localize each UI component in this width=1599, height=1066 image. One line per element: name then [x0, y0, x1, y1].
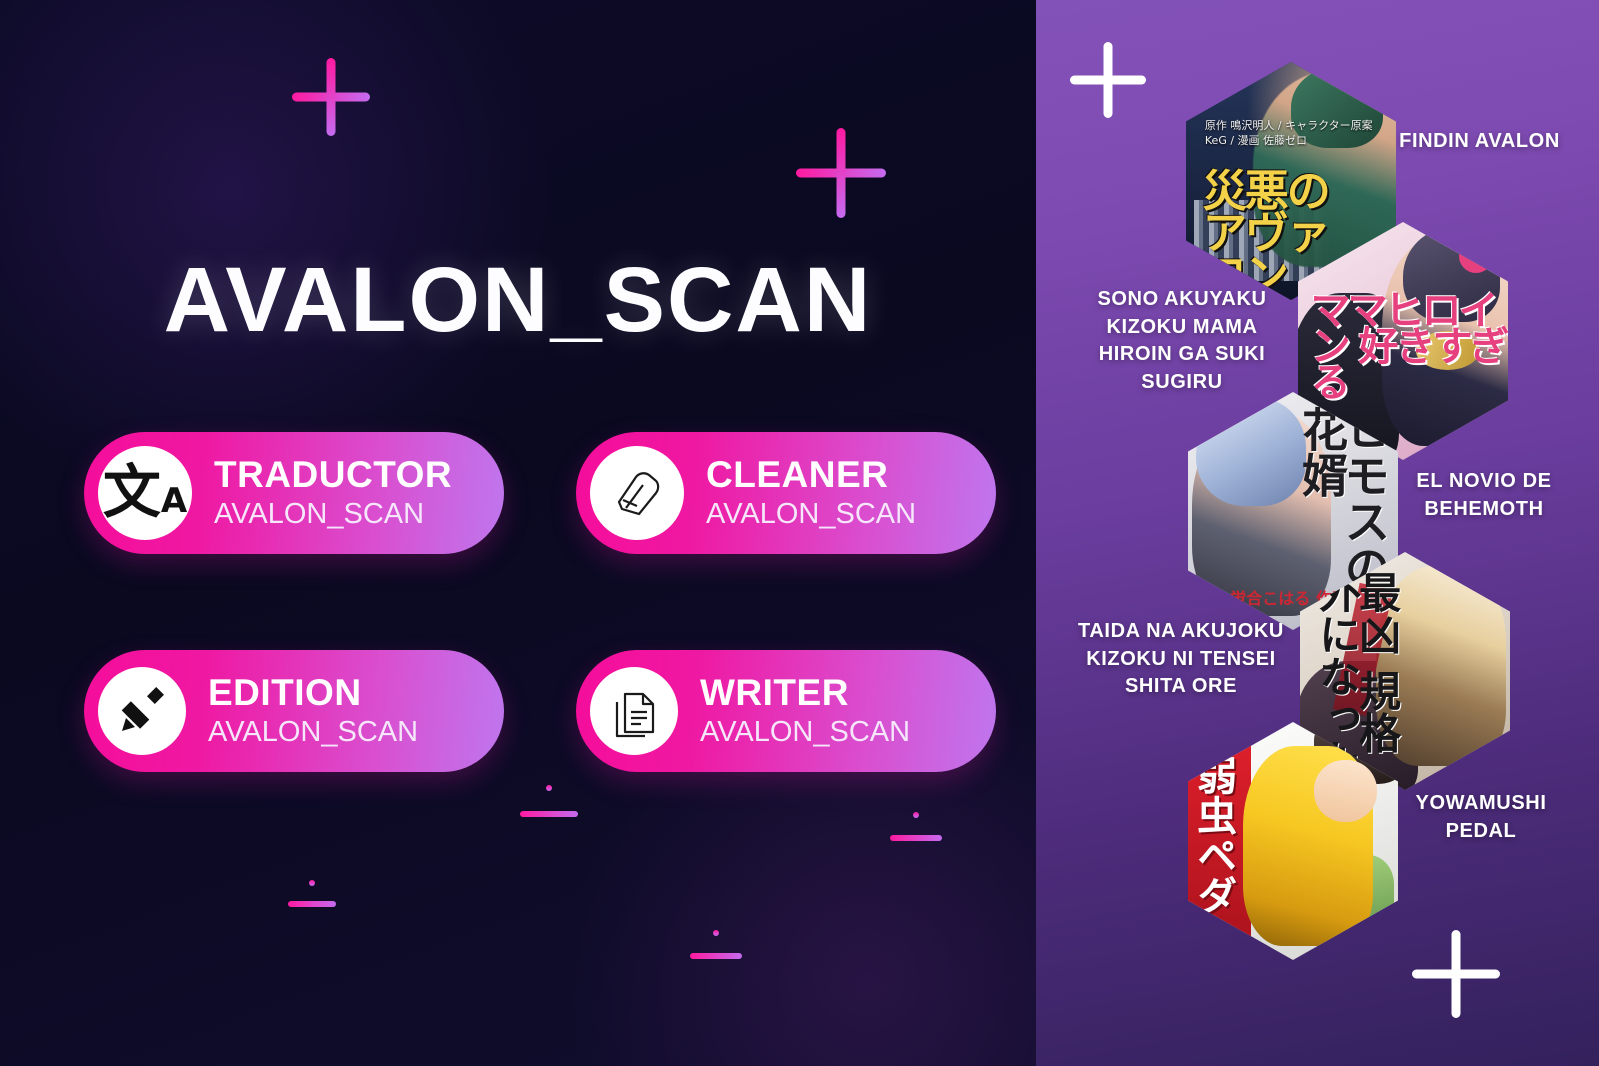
- showcase-panel: 原作 鳴沢明人 / キャラクター原案 KeG / 漫画 佐藤ゼロ 災悪のアヴァロ…: [1036, 0, 1599, 1066]
- role-subtitle: AVALON_SCAN: [208, 717, 418, 747]
- plus-mark-pink-4: [890, 812, 942, 864]
- role-text-edition: EDITION AVALON_SCAN: [208, 674, 418, 747]
- role-title: EDITION: [208, 674, 418, 713]
- role-subtitle: AVALON_SCAN: [700, 717, 910, 747]
- role-text-cleaner: CLEANER AVALON_SCAN: [706, 456, 916, 529]
- plus-mark-white-1: [1070, 42, 1146, 118]
- cover-volume-badge: 2: [1459, 239, 1493, 273]
- document-icon: [590, 667, 678, 755]
- eraser-icon: [590, 446, 684, 540]
- role-title: TRADUCTOR: [214, 456, 452, 495]
- plus-mark-pink-2: [796, 128, 886, 218]
- plus-mark-pink-3: [520, 785, 578, 843]
- cover-title: ママヒロイン 好きすぎる: [1311, 293, 1508, 401]
- role-card-cleaner[interactable]: CLEANER AVALON_SCAN: [576, 432, 996, 554]
- role-text-traductor: TRADUCTOR AVALON_SCAN: [214, 456, 452, 529]
- showcase-label-4: TAIDA NA AKUJOKU KIZOKU NI TENSEI SHITA …: [1068, 618, 1294, 701]
- translate-icon: 文A: [98, 446, 192, 540]
- roles-grid: 文A TRADUCTOR AVALON_SCAN: [84, 432, 1004, 772]
- cover-title: 災悪のアヴァロン: [1203, 171, 1367, 257]
- role-card-writer[interactable]: WRITER AVALON_SCAN: [576, 650, 996, 772]
- plus-mark-pink-6: [690, 930, 742, 982]
- showcase-label-5: YOWAMUSHI PEDAL: [1388, 790, 1574, 845]
- showcase-label-1: FINDIN AVALON: [1392, 128, 1567, 156]
- role-subtitle: AVALON_SCAN: [214, 499, 452, 529]
- role-title: CLEANER: [706, 456, 916, 495]
- showcase-label-3: EL NOVIO DE BEHEMOTH: [1394, 468, 1574, 523]
- pencil-icon: [98, 667, 186, 755]
- poster-root: AVALON_SCAN 文A TRADUCTOR AVALON_SCAN: [0, 0, 1599, 1066]
- plus-mark-pink-5: [288, 880, 336, 928]
- page-title: AVALON_SCAN: [0, 248, 1036, 353]
- left-panel: AVALON_SCAN 文A TRADUCTOR AVALON_SCAN: [0, 0, 1036, 1066]
- plus-mark-pink-1: [292, 58, 370, 136]
- showcase-label-2: SONO AKUYAKU KIZOKU MAMA HIROIN GA SUKI …: [1072, 286, 1292, 396]
- role-card-traductor[interactable]: 文A TRADUCTOR AVALON_SCAN: [84, 432, 504, 554]
- role-subtitle: AVALON_SCAN: [706, 499, 916, 529]
- plus-mark-white-2: [1412, 930, 1500, 1018]
- role-title: WRITER: [700, 674, 910, 713]
- cover-title: 弱虫ペダル: [1194, 755, 1231, 955]
- role-text-writer: WRITER AVALON_SCAN: [700, 674, 910, 747]
- role-card-edition[interactable]: EDITION AVALON_SCAN: [84, 650, 504, 772]
- cover-credits: 原作 鳴沢明人 / キャラクター原案 KeG / 漫画 佐藤ゼロ: [1205, 119, 1396, 149]
